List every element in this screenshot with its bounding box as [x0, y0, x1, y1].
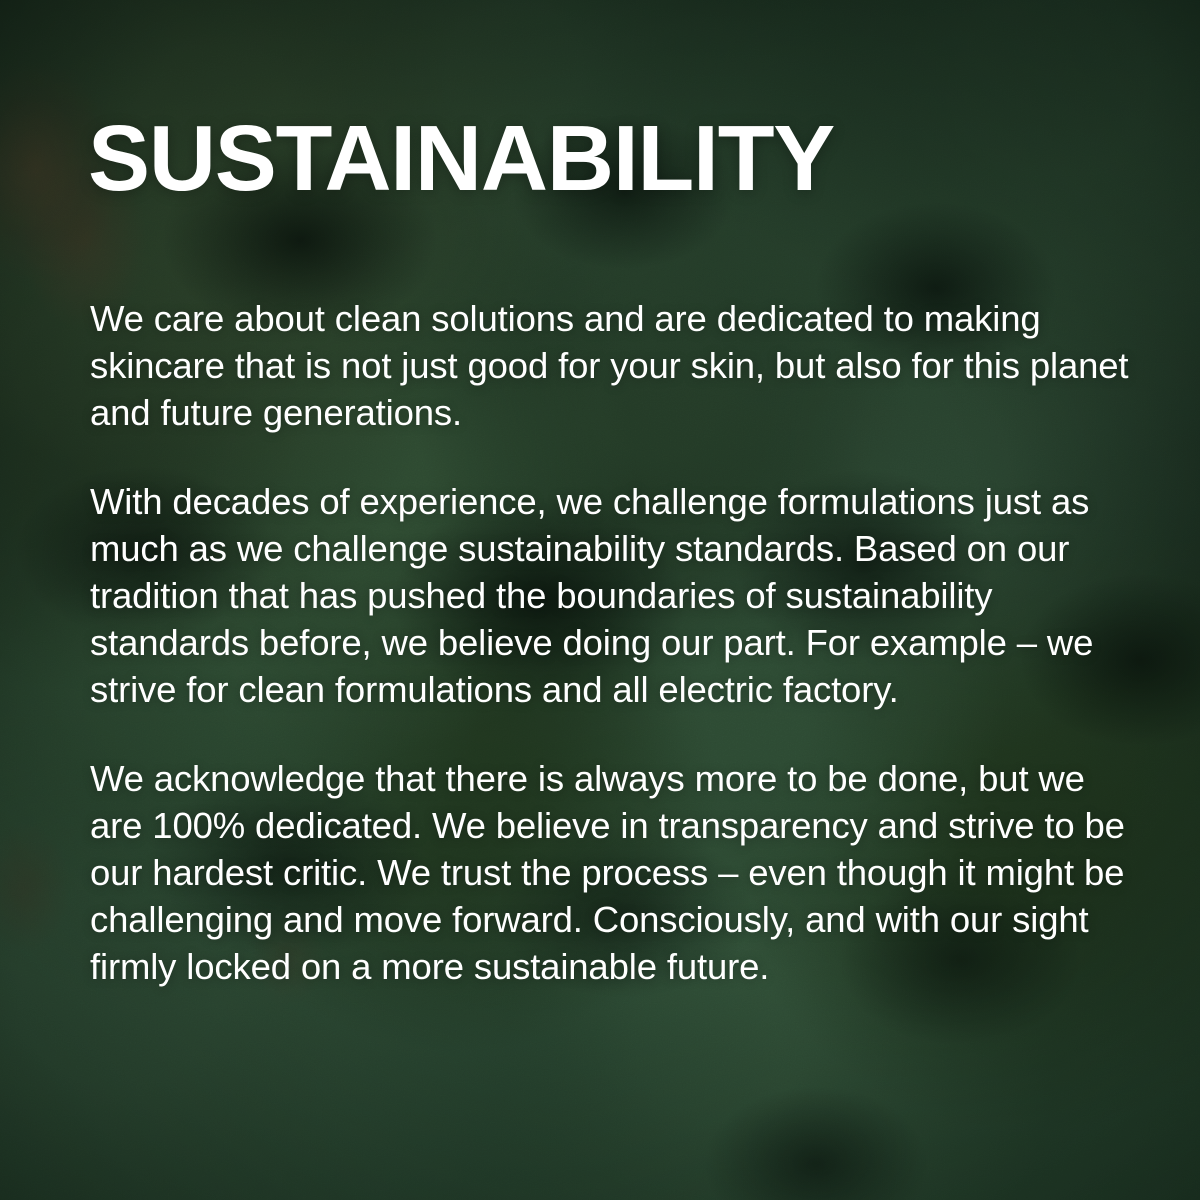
paragraph-commitment: We acknowledge that there is always more… — [90, 755, 1136, 990]
content-overlay: SUSTAINABILITY We care about clean solut… — [0, 0, 1200, 1200]
page-title: SUSTAINABILITY — [88, 110, 834, 206]
body-copy-block: We care about clean solutions and are de… — [90, 295, 1136, 990]
paragraph-intro: We care about clean solutions and are de… — [90, 295, 1136, 436]
sustainability-page: SUSTAINABILITY We care about clean solut… — [0, 0, 1200, 1200]
paragraph-experience: With decades of experience, we challenge… — [90, 478, 1136, 713]
